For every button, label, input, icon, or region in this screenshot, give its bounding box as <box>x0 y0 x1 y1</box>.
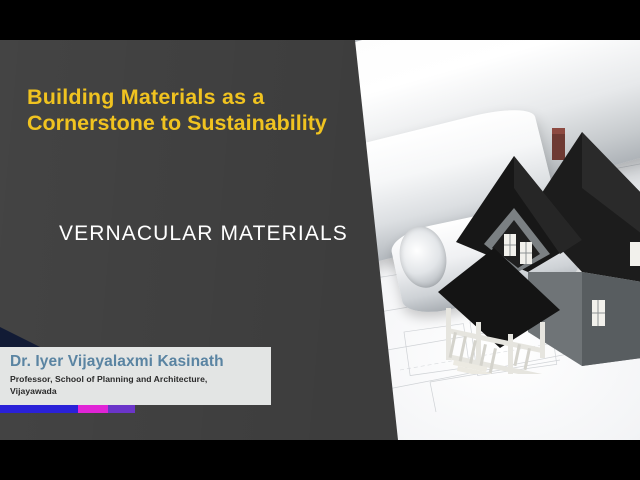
page-title: Building Materials as a Cornerstone to S… <box>27 84 327 136</box>
presenter-card: Dr. Iyer Vijayalaxmi Kasinath Professor,… <box>0 347 271 405</box>
presenter-role: Professor, School of Planning and Archit… <box>10 374 271 397</box>
title-line-1: Building Materials as a <box>27 84 327 110</box>
video-slide: 0181 0181 2400 0181 0181 <box>0 0 640 480</box>
presenter-role-line-2: Vijayawada <box>10 386 271 398</box>
strip-segment-purple <box>108 405 135 413</box>
color-accent-strip <box>0 405 135 413</box>
subject-heading: VERNACULAR MATERIALS <box>59 222 348 246</box>
presenter-name: Dr. Iyer Vijayalaxmi Kasinath <box>10 352 271 371</box>
model-house-icon <box>432 122 640 374</box>
strip-segment-blue <box>0 405 78 413</box>
letterbox-top <box>0 0 640 40</box>
title-line-2: Cornerstone to Sustainability <box>27 110 327 136</box>
presenter-role-line-1: Professor, School of Planning and Archit… <box>10 374 271 386</box>
strip-segment-magenta <box>78 405 108 413</box>
letterbox-bottom <box>0 440 640 480</box>
